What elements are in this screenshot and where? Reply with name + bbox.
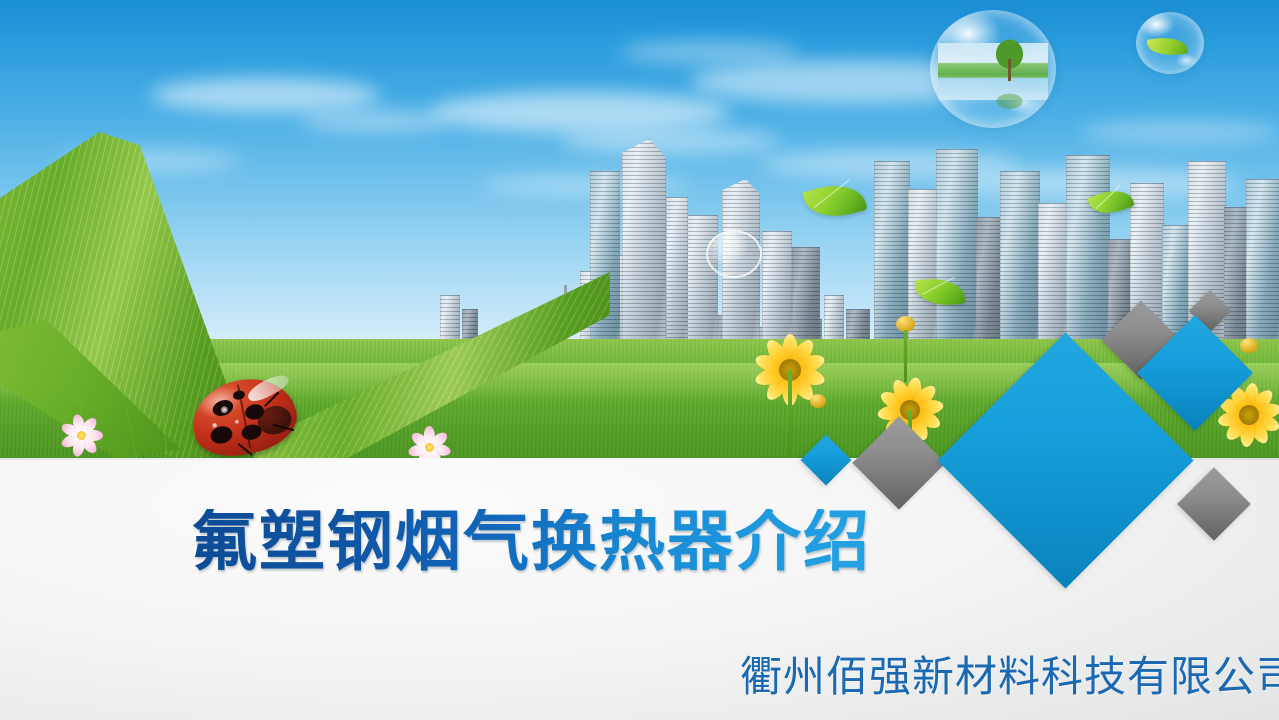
- cosmos-flower: [58, 412, 104, 458]
- bubble-tree-reflection: [988, 83, 1031, 114]
- presentation-slide: 氟塑钢烟气换热器介绍 衢州佰强新材料科技有限公司: [0, 0, 1279, 720]
- cloud: [150, 78, 380, 112]
- flower-bud: [1240, 338, 1258, 353]
- bubble-leaf: [1147, 34, 1189, 58]
- soap-bubble-outline: [706, 230, 762, 278]
- flower-stem: [904, 330, 907, 382]
- page-title: 氟塑钢烟气换热器介绍: [191, 509, 871, 575]
- company-name: 衢州佰强新材料科技有限公司: [740, 643, 1279, 704]
- bubble-tree: [988, 31, 1031, 85]
- soap-bubble-leaf: [1136, 12, 1204, 74]
- cloud: [300, 110, 450, 132]
- cloud: [620, 40, 800, 64]
- soap-bubble-tree: [930, 10, 1056, 128]
- flower-bud: [810, 394, 826, 408]
- flower-stem: [788, 370, 792, 459]
- cosmos-flower: [406, 424, 452, 459]
